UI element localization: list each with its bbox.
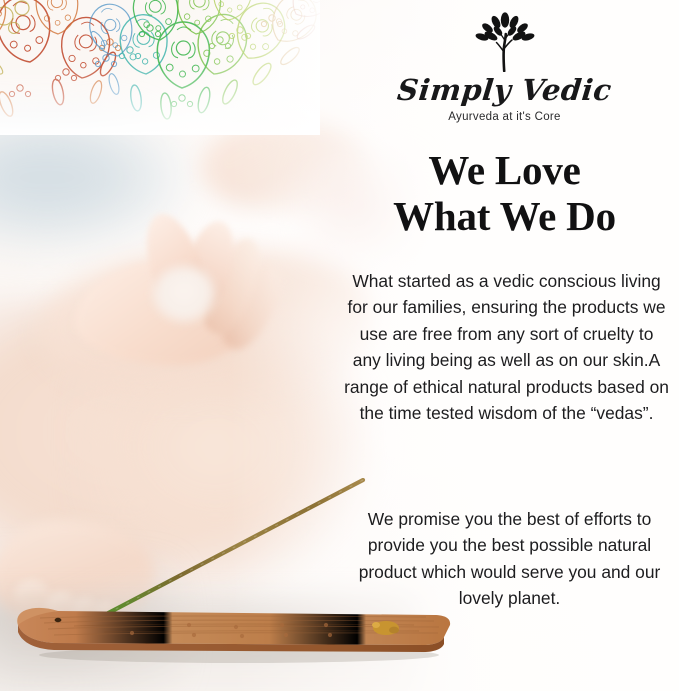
brand-logo: Simply Vedic Ayurveda at it's Core [330, 12, 679, 123]
body-paragraph-2: We promise you the best of efforts to pr… [350, 506, 669, 612]
headline-line-1: We Love [428, 147, 580, 193]
headline-line-2: What We Do [330, 194, 679, 240]
brand-name: Simply Vedic [328, 75, 679, 105]
body-paragraph-1: What started as a vedic conscious living… [344, 268, 669, 427]
hand-mudra-circle [153, 266, 215, 322]
promo-image-canvas: Simply Vedic Ayurveda at it's Core We Lo… [0, 0, 679, 691]
brand-tagline: Ayurveda at it's Core [330, 111, 679, 123]
page-title: We Love What We Do [330, 148, 679, 240]
tree-icon [330, 12, 679, 77]
content-column: Simply Vedic Ayurveda at it's Core We Lo… [330, 0, 679, 691]
